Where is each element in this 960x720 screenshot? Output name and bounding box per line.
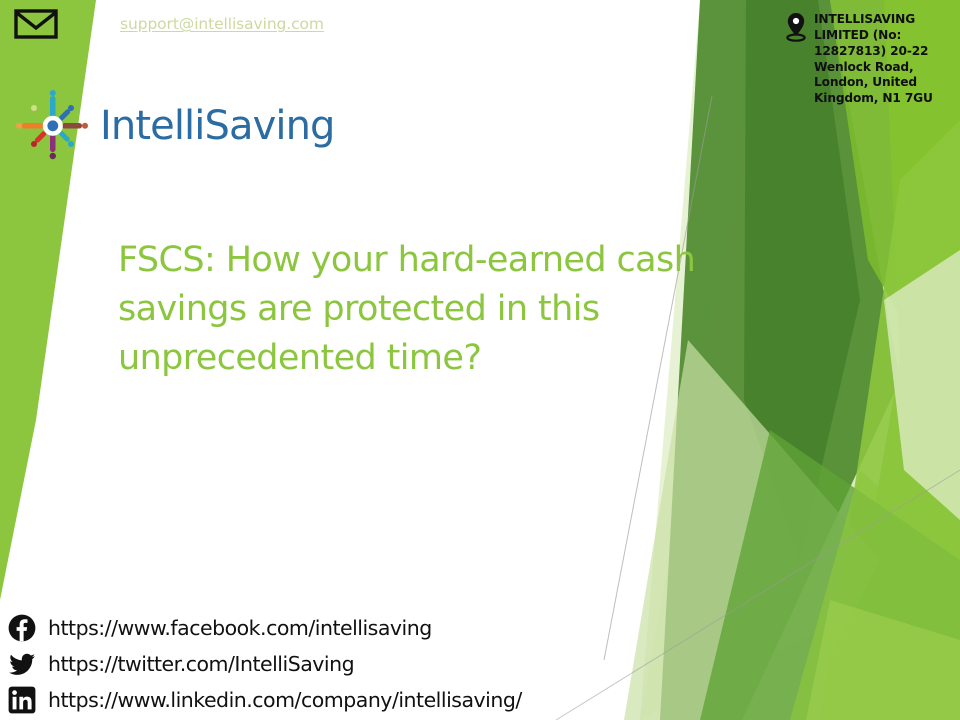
social-url-linkedin: https://www.linkedin.com/company/intelli…	[48, 688, 522, 712]
right-polygon-green-4	[790, 470, 960, 720]
social-link-facebook[interactable]: https://www.facebook.com/intellisaving	[8, 614, 522, 642]
address-text: INTELLISAVING LIMITED (No: 12827813) 20-…	[814, 12, 960, 107]
brand-wordmark: IntelliSaving	[100, 103, 335, 149]
linkedin-icon	[8, 686, 36, 714]
right-polygon-mid-2	[820, 120, 960, 720]
right-polygon-green-3	[700, 430, 960, 720]
social-url-twitter: https://twitter.com/IntelliSaving	[48, 652, 354, 676]
social-link-twitter[interactable]: https://twitter.com/IntelliSaving	[8, 650, 522, 678]
company-address-block: INTELLISAVING LIMITED (No: 12827813) 20-…	[784, 12, 960, 107]
brand-lockup: IntelliSaving	[14, 88, 335, 164]
social-url-facebook: https://www.facebook.com/intellisaving	[48, 616, 432, 640]
social-links-list: https://www.facebook.com/intellisaving h…	[8, 614, 522, 714]
envelope-icon	[14, 8, 58, 40]
facebook-icon	[8, 614, 36, 642]
location-pin-icon	[784, 12, 808, 42]
hairline-2	[556, 470, 960, 720]
right-polygon-mid-1	[700, 0, 960, 720]
right-polygon-pale-2	[624, 340, 880, 720]
page-title: FSCS: How your hard-earned cash savings …	[118, 236, 738, 383]
social-link-linkedin[interactable]: https://www.linkedin.com/company/intelli…	[8, 686, 522, 714]
email-link[interactable]: support@intellisaving.com	[120, 15, 324, 33]
right-polygon-pale-3	[884, 250, 960, 520]
right-polygon-pale-4	[806, 600, 960, 720]
right-polygon-bright-2	[838, 0, 960, 720]
starburst-logo-icon	[14, 88, 92, 164]
email-contact-row: support@intellisaving.com	[14, 8, 324, 40]
slide-canvas: support@intellisaving.com	[0, 0, 960, 720]
twitter-icon	[8, 650, 36, 678]
